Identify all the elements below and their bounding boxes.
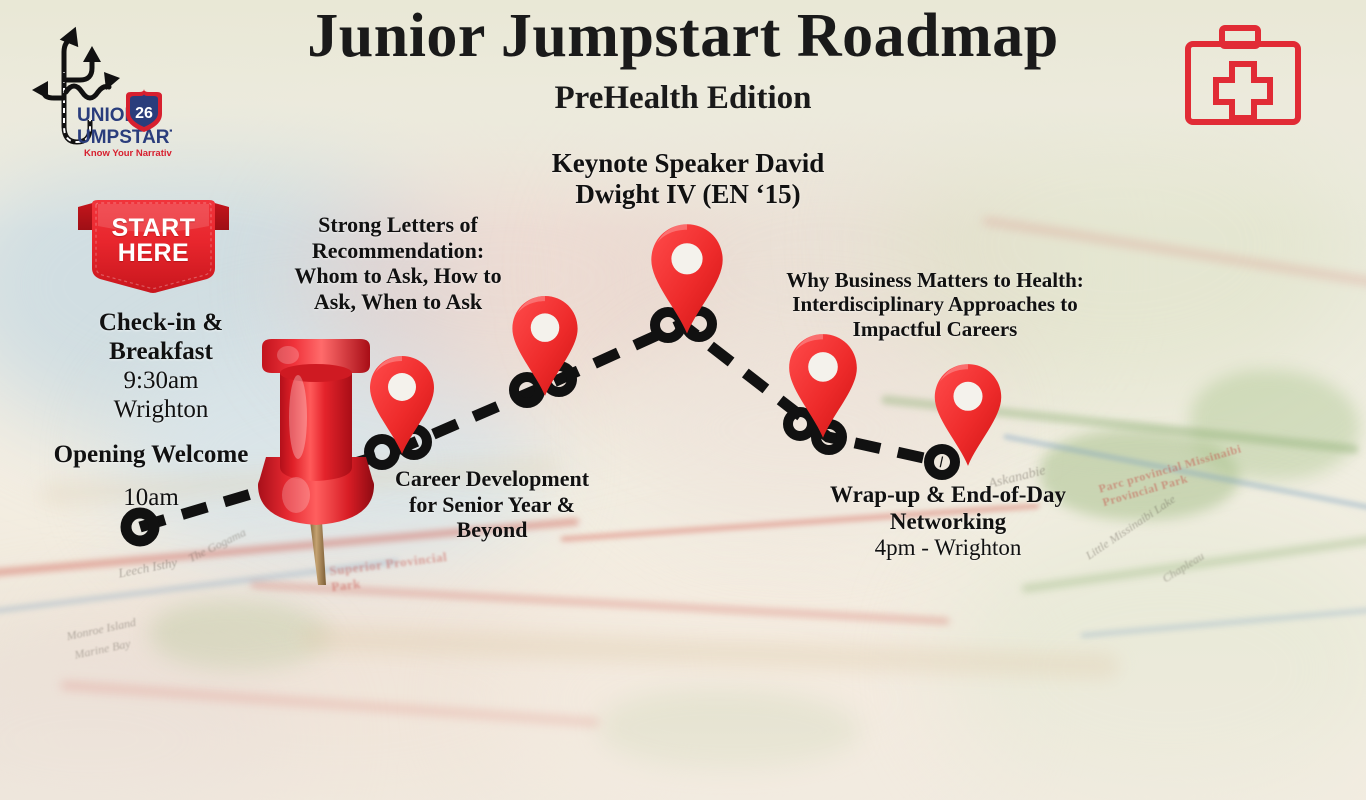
label-opening-welcome: Opening Welcome 10am (16, 440, 286, 512)
career-line3: Beyond (372, 517, 612, 543)
letters-line1: Strong Letters of (282, 212, 514, 238)
business-line2: Interdisciplinary Approaches to (762, 292, 1108, 316)
business-line1: Why Business Matters to Health: (762, 268, 1108, 292)
label-career-development: Career Development for Senior Year & Bey… (372, 466, 612, 543)
checkin-location: Wrighton (36, 395, 286, 424)
career-line1: Career Development (372, 466, 612, 492)
business-line3: Impactful Careers (762, 317, 1108, 341)
keynote-line2: Dwight IV (EN ‘15) (492, 179, 884, 210)
letters-line4: Ask, When to Ask (282, 289, 514, 315)
label-checkin: Check-in & Breakfast 9:30am Wrighton (36, 308, 286, 424)
opening-title: Opening Welcome (16, 440, 286, 469)
opening-time: 10am (16, 483, 286, 512)
start-here-banner: START HERE (76, 196, 231, 296)
label-business-matters: Why Business Matters to Health: Interdis… (762, 268, 1108, 341)
letters-line3: Whom to Ask, How to (282, 263, 514, 289)
page-title: Junior Jumpstart Roadmap (0, 4, 1366, 69)
logo-word-jumpstart: UMPSTART (77, 127, 172, 148)
letters-line2: Recommendation: (282, 238, 514, 264)
checkin-time: 9:30am (36, 366, 286, 395)
wrap-line3: 4pm - Wrighton (808, 535, 1088, 562)
roadmap-poster: Leech Isthy Monroe Island Marine Bay The… (0, 0, 1366, 800)
page-subtitle: PreHealth Edition (0, 80, 1366, 117)
wrap-line2: Networking (808, 509, 1088, 536)
checkin-line2: Breakfast (36, 337, 286, 366)
first-aid-kit-icon (1178, 18, 1308, 133)
checkin-line1: Check-in & (36, 308, 286, 337)
wrap-line1: Wrap-up & End-of-Day (808, 482, 1088, 509)
career-line2: for Senior Year & (372, 492, 612, 518)
label-wrapup-networking: Wrap-up & End-of-Day Networking 4pm - Wr… (808, 482, 1088, 562)
label-keynote-speaker: Keynote Speaker David Dwight IV (EN ‘15) (492, 148, 884, 211)
keynote-line1: Keynote Speaker David (492, 148, 884, 179)
logo-tagline: Know Your Narrative (84, 148, 172, 159)
label-strong-letters: Strong Letters of Recommendation: Whom t… (282, 212, 514, 314)
